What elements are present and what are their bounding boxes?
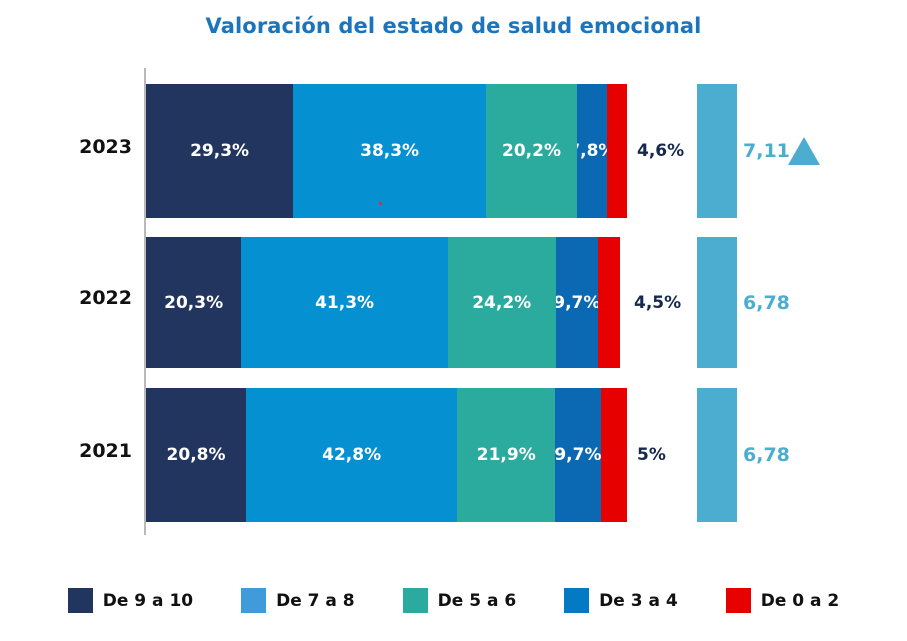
legend-item-label: De 3 a 4: [599, 591, 678, 611]
legend-item-label: De 7 a 8: [276, 591, 355, 611]
bar-segment-de-7-a-8[interactable]: 38,3%: [293, 84, 486, 218]
legend-swatch-icon: [68, 588, 93, 613]
up-triangle-icon: [788, 137, 820, 165]
legend-item-de-3-a-4[interactable]: De 3 a 4: [564, 588, 678, 613]
bar-segment-de-9-a-10[interactable]: 20,8%: [146, 388, 246, 522]
category-label-2023: 2023: [48, 136, 132, 158]
bar-segment-de-5-a-6[interactable]: 24,2%: [448, 237, 556, 368]
legend-item-label: De 0 a 2: [761, 591, 840, 611]
category-label-2021: 2021: [48, 440, 132, 462]
score-bar-2022[interactable]: [697, 237, 737, 368]
chart-row-2022: 2022 20,3% 41,3% 24,2% 9,7% 4,5% 6,78: [0, 237, 907, 368]
legend-swatch-icon: [726, 588, 751, 613]
bar-segment-de-0-a-2[interactable]: [607, 84, 627, 218]
score-value-2023: 7,11: [743, 84, 790, 218]
bar-segment-de-5-a-6[interactable]: 21,9%: [457, 388, 555, 522]
decorative-speck: [379, 202, 382, 205]
score-value-2021: 6,78: [743, 388, 790, 522]
bar-segment-de-3-a-4[interactable]: 9,7%: [556, 237, 599, 368]
stacked-bar-2021: 20,8% 42,8% 21,9% 9,7%: [146, 388, 627, 522]
score-value-2022: 6,78: [743, 237, 790, 368]
bar-segment-de-3-a-4[interactable]: 7,8%: [577, 84, 607, 218]
legend-swatch-icon: [403, 588, 428, 613]
category-label-2022: 2022: [48, 287, 132, 309]
legend-item-de-9-a-10[interactable]: De 9 a 10: [68, 588, 193, 613]
legend-item-de-7-a-8[interactable]: De 7 a 8: [241, 588, 355, 613]
legend-swatch-icon: [241, 588, 266, 613]
bar-segment-de-7-a-8[interactable]: 42,8%: [246, 388, 457, 522]
bar-segment-de-0-a-2[interactable]: [598, 237, 620, 368]
legend-item-de-5-a-6[interactable]: De 5 a 6: [403, 588, 517, 613]
legend-item-de-0-a-2[interactable]: De 0 a 2: [726, 588, 840, 613]
score-bar-2023[interactable]: [697, 84, 737, 218]
bar-segment-de-9-a-10[interactable]: 20,3%: [146, 237, 241, 368]
legend-item-label: De 9 a 10: [103, 591, 193, 611]
chart-plot-area: 2023 29,3% 38,3% 20,2% 7,8% 4,6% 7,11 20…: [0, 0, 907, 570]
bar-outside-label-de-0-a-2: 4,6%: [637, 84, 684, 218]
chart-row-2021: 2021 20,8% 42,8% 21,9% 9,7% 5% 6,78: [0, 388, 907, 522]
bar-segment-de-0-a-2[interactable]: [601, 388, 627, 522]
bar-outside-label-de-0-a-2: 4,5%: [634, 237, 681, 368]
stacked-bar-2022: 20,3% 41,3% 24,2% 9,7%: [146, 237, 620, 368]
stacked-bar-2023: 29,3% 38,3% 20,2% 7,8%: [146, 84, 627, 218]
score-bar-2021[interactable]: [697, 388, 737, 522]
legend-item-label: De 5 a 6: [438, 591, 517, 611]
chart-row-2023: 2023 29,3% 38,3% 20,2% 7,8% 4,6% 7,11: [0, 84, 907, 218]
bar-segment-de-5-a-6[interactable]: 20,2%: [486, 84, 577, 218]
chart-legend: De 9 a 10 De 7 a 8 De 5 a 6 De 3 a 4 De …: [0, 588, 907, 613]
bar-outside-label-de-0-a-2: 5%: [637, 388, 666, 522]
legend-swatch-icon: [564, 588, 589, 613]
bar-segment-de-3-a-4[interactable]: 9,7%: [555, 388, 600, 522]
bar-segment-de-9-a-10[interactable]: 29,3%: [146, 84, 293, 218]
bar-segment-de-7-a-8[interactable]: 41,3%: [241, 237, 448, 368]
